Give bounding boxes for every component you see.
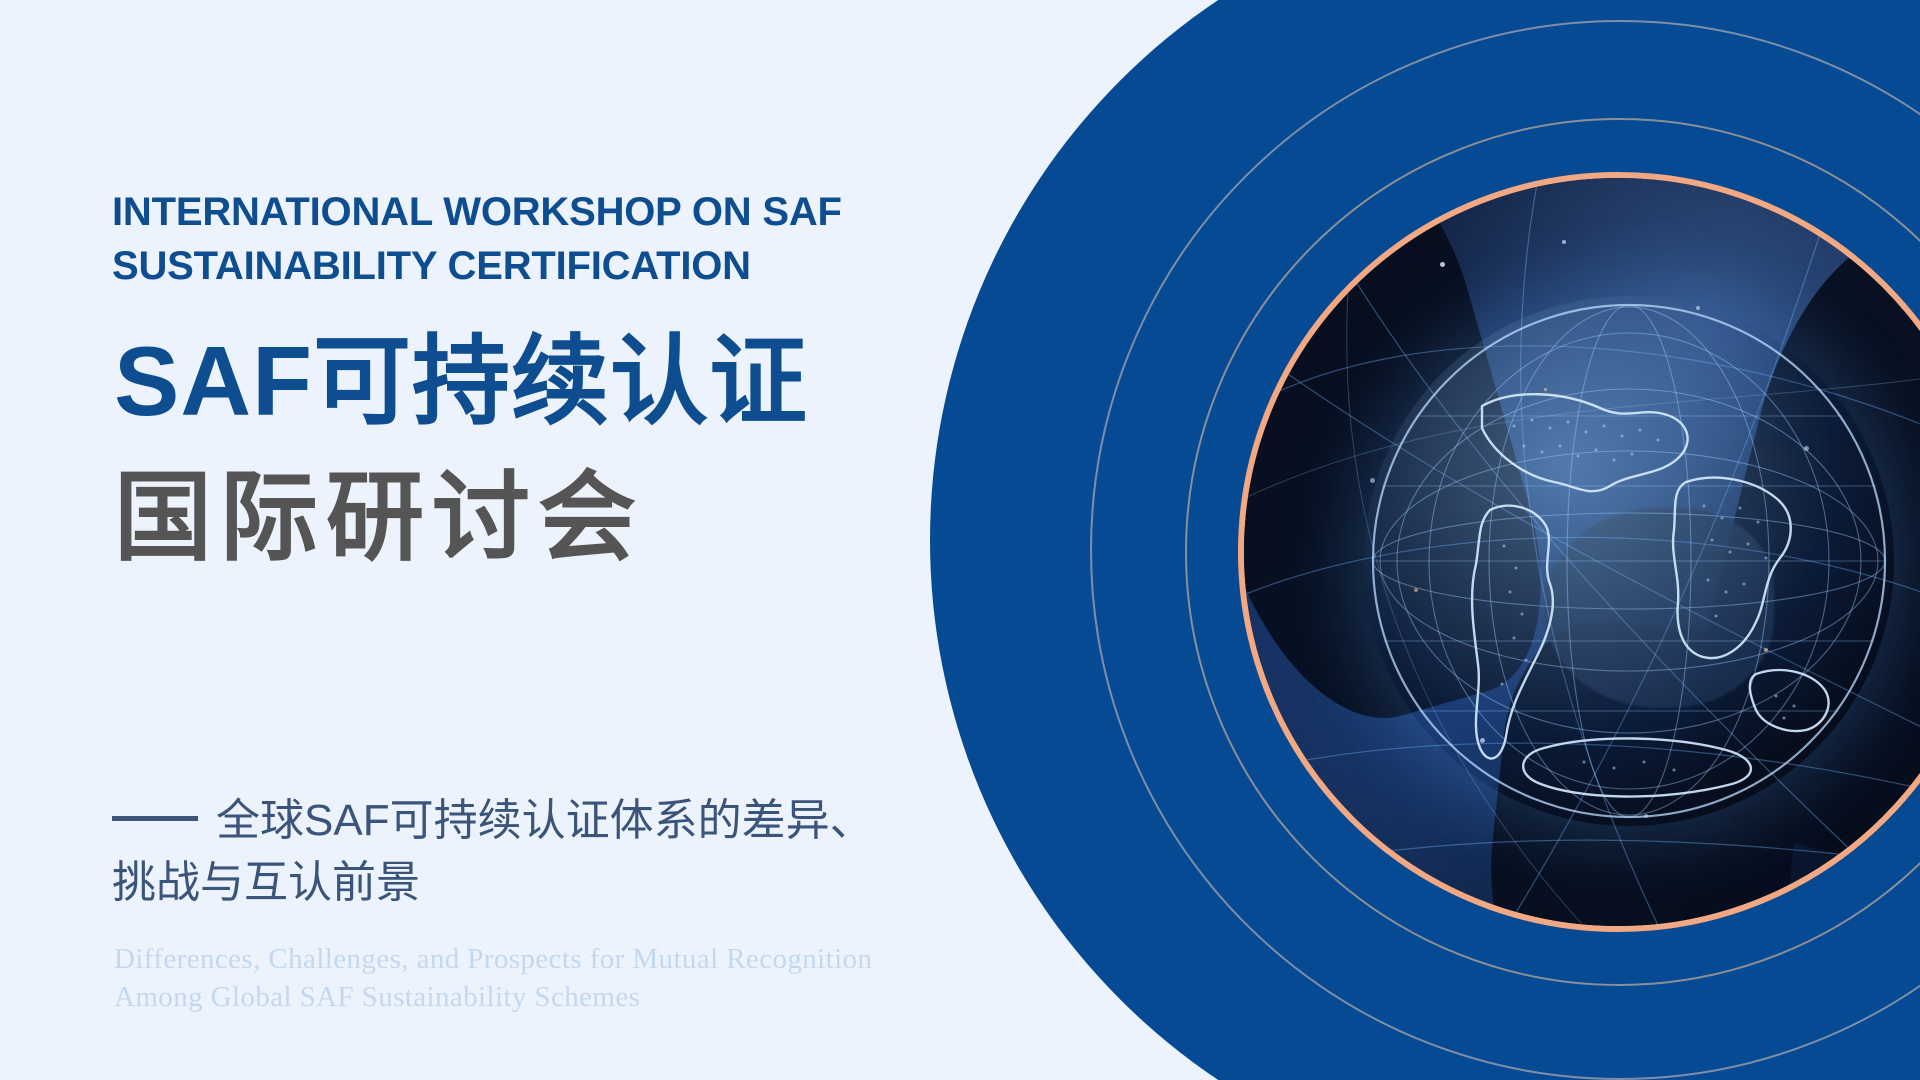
particle [1696, 306, 1700, 310]
eyebrow-heading: INTERNATIONAL WORKSHOP ON SAF SUSTAINABI… [112, 186, 872, 293]
topic-subtitle-en-line-1: Differences, Challenges, and Prospects f… [114, 940, 1014, 978]
particle [1370, 478, 1375, 483]
particle [1480, 738, 1485, 743]
particle [1544, 388, 1547, 391]
topic-subtitle-line-1: 全球SAF可持续认证体系的差异、 [216, 796, 874, 845]
topic-subtitle-english: Differences, Challenges, and Prospects f… [114, 940, 1014, 1017]
topic-subtitle-en-line-2: Among Global SAF Sustainability Schemes [114, 978, 1014, 1016]
particle [1414, 588, 1418, 592]
globe-photo-circle [1238, 172, 1920, 932]
blue-disc-shape [930, 0, 1920, 1080]
handshake-silhouette-right [1662, 209, 1920, 888]
poster-text-column: INTERNATIONAL WORKSHOP ON SAF SUSTAINABI… [112, 0, 932, 1080]
particle [1562, 240, 1566, 244]
particle [1644, 814, 1648, 818]
digital-globe [1364, 296, 1894, 826]
particle [1440, 262, 1445, 267]
page-subtitle-cn: 国际研讨会 [114, 466, 644, 570]
particle [1804, 446, 1809, 451]
photo-background [1244, 178, 1920, 926]
handshake-silhouette-left [1238, 172, 1575, 748]
globe-wireframe-icon [1364, 296, 1894, 826]
eyebrow-line-1: INTERNATIONAL WORKSHOP ON SAF [112, 186, 872, 240]
handshake-silhouette-bottom [1473, 611, 1815, 932]
eyebrow-line-2: SUSTAINABILITY CERTIFICATION [112, 240, 872, 294]
inner-ring-outline [1185, 118, 1920, 986]
outer-ring-outline [1090, 20, 1920, 1080]
em-dash-rule [112, 816, 198, 821]
page-title: SAF可持续认证 [114, 330, 808, 434]
network-lines-overlay [1244, 178, 1920, 926]
decorative-circle-graphic [820, 0, 1920, 1080]
topic-subtitle: 全球SAF可持续认证体系的差异、 挑战与互认前景 [112, 790, 992, 915]
particle [1764, 648, 1768, 652]
clasped-hands-shape [1544, 508, 1774, 708]
topic-subtitle-line-2: 挑战与互认前景 [112, 858, 420, 907]
